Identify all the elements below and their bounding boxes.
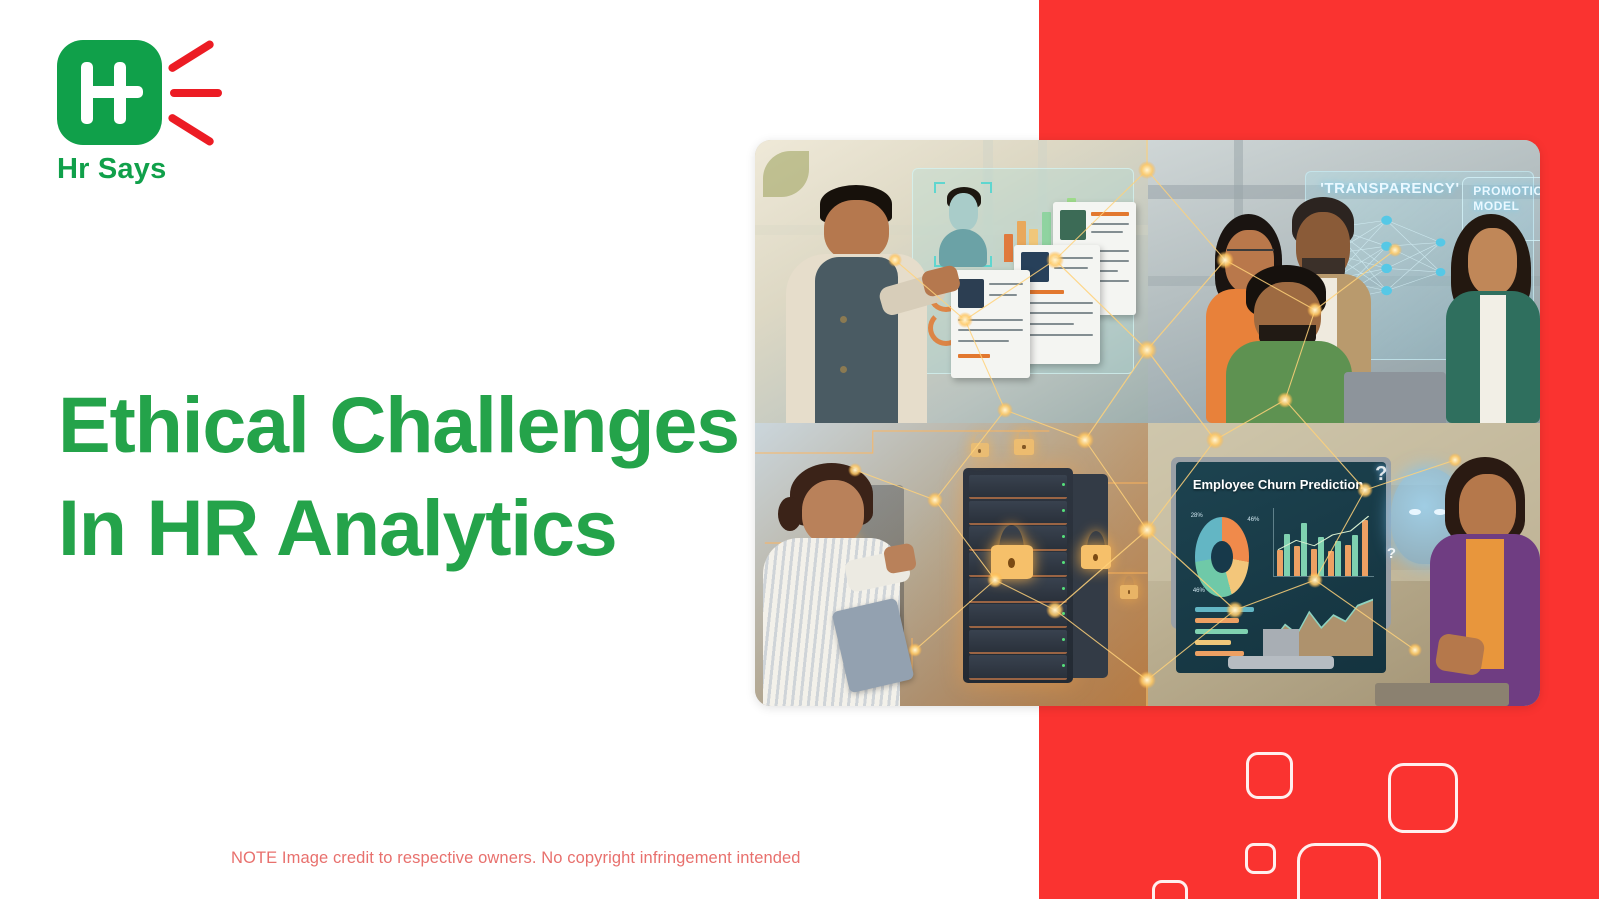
desktop-monitor: Employee Churn Prediction 28% 46% 46% [1171, 457, 1391, 678]
question-mark-icon: ? [1375, 463, 1387, 486]
person-privacy-officer [763, 463, 912, 706]
horizontal-bar-chart [1195, 605, 1258, 660]
poster-canvas: Hr Says Ethical Challenges In HR Analyti… [0, 0, 1599, 899]
collage-quadrant-bottom-left [755, 423, 1148, 706]
brand-wordmark: Hr Says [57, 153, 166, 186]
page-title-line-2: In HR Analytics [58, 476, 758, 579]
page-title: Ethical Challenges In HR Analytics [58, 373, 758, 580]
page-title-line-1: Ethical Challenges [58, 373, 758, 476]
decorative-rounded-square [1152, 880, 1188, 899]
donut-label: 46% [1193, 588, 1205, 594]
keyboard [1375, 683, 1508, 706]
padlock-icon [991, 525, 1033, 579]
candidate-card [951, 270, 1030, 378]
donut-label: 28% [1191, 513, 1203, 519]
decorative-rounded-square [1245, 843, 1276, 874]
decorative-rounded-square [1246, 752, 1293, 799]
question-mark-icon: ? [1387, 545, 1396, 562]
dashboard-title: Employee Churn Prediction [1193, 477, 1363, 492]
collage-quadrant-top-left [755, 140, 1148, 423]
padlock-icon [1014, 429, 1034, 455]
padlock-icon [1081, 531, 1111, 569]
decorative-rounded-square [1297, 843, 1381, 899]
bar-chart [1273, 508, 1375, 576]
padlock-icon [971, 434, 989, 457]
transparency-screen-label: 'TRANSPARENCY' [1320, 180, 1459, 197]
person-presenter [1446, 214, 1540, 423]
speech-rays-icon [161, 40, 267, 145]
copyright-note: NOTE Image credit to respective owners. … [231, 849, 801, 868]
decorative-rounded-square [1388, 763, 1458, 833]
person-data-analyst [1430, 457, 1540, 706]
person-hr-manager [779, 185, 960, 423]
letter-h-icon [57, 40, 162, 145]
collage-image: 'TRANSPARENCY' PROMOTION MODEL [755, 140, 1540, 706]
promotion-model-label: PROMOTION MODEL [1473, 184, 1540, 214]
padlock-icon [1120, 576, 1138, 599]
collage-quadrant-top-right: 'TRANSPARENCY' PROMOTION MODEL [1148, 140, 1541, 423]
brand-logo[interactable]: Hr Says [57, 40, 267, 190]
donut-chart [1195, 517, 1250, 597]
collage-quadrant-bottom-right: Employee Churn Prediction 28% 46% 46% [1148, 423, 1541, 706]
person-employee-green [1226, 265, 1352, 423]
donut-label: 46% [1247, 517, 1259, 523]
